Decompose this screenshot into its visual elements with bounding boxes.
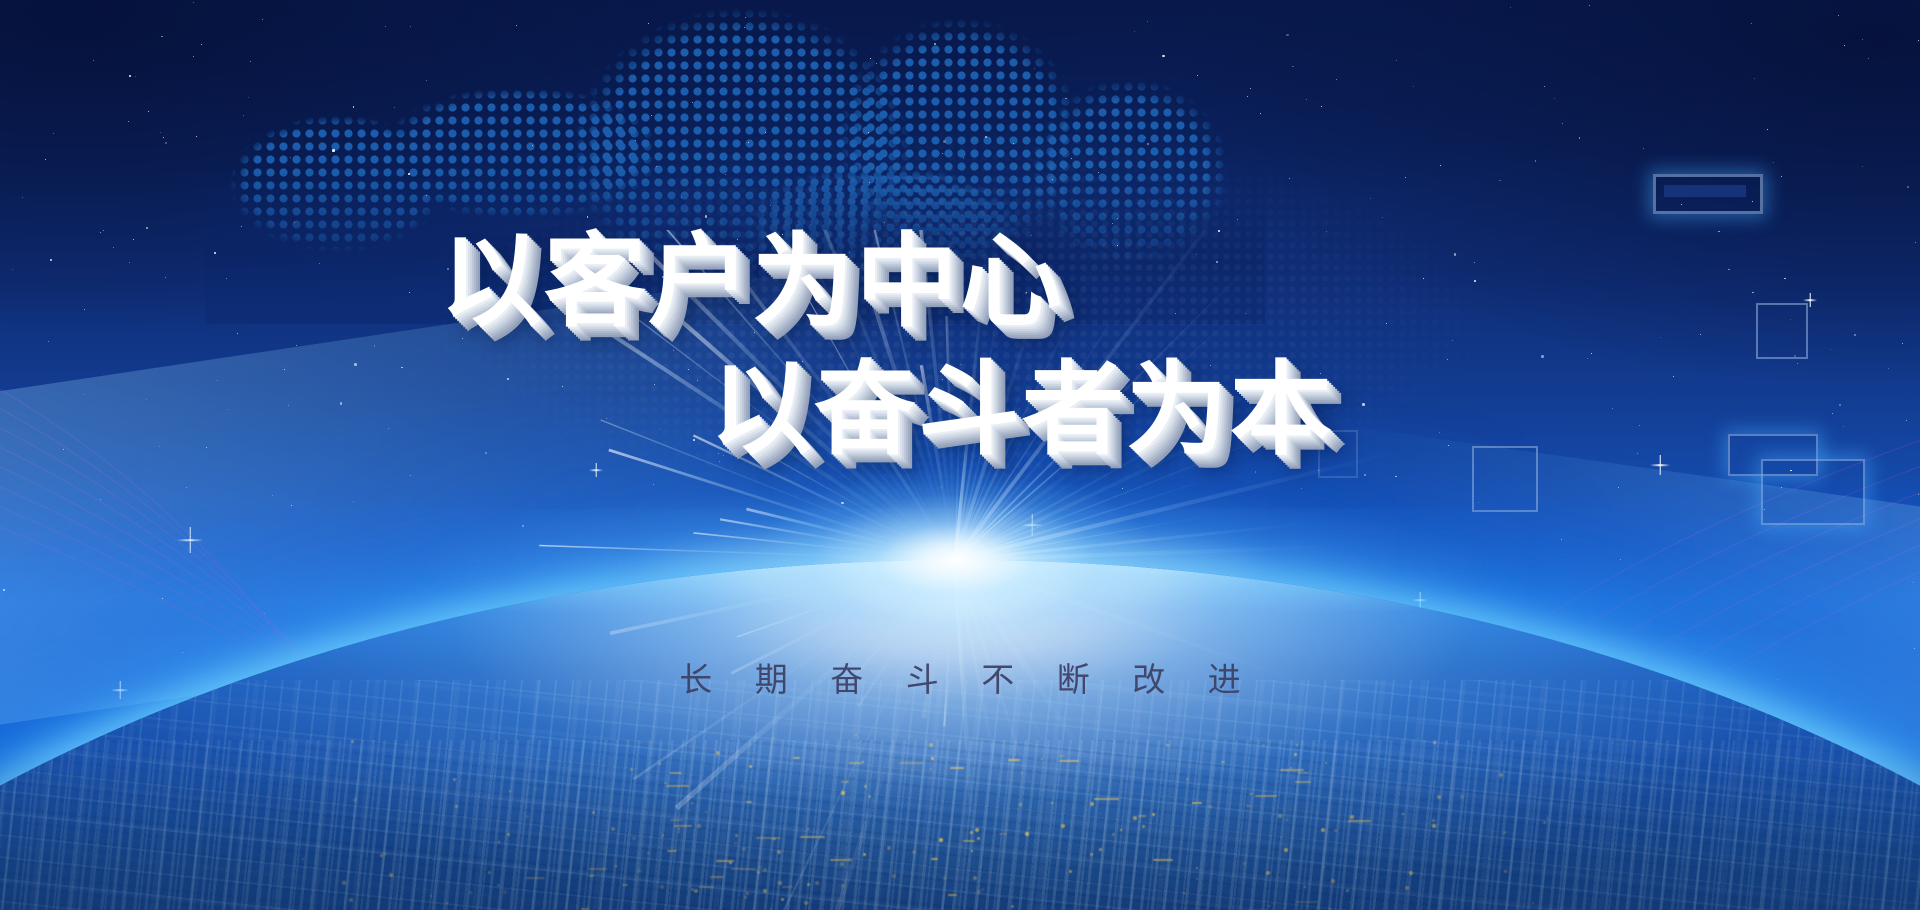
star xyxy=(1396,60,1397,61)
star xyxy=(1839,404,1841,406)
star xyxy=(146,227,149,230)
star xyxy=(1562,123,1563,124)
star xyxy=(1197,75,1198,76)
city-light xyxy=(1589,863,1590,864)
banner-stage: 以客户为中心 以奋斗者为本 长 期 奋 斗 不 断 改 进 xyxy=(0,0,1920,910)
star xyxy=(165,142,167,144)
star xyxy=(1591,353,1592,354)
star xyxy=(1250,88,1251,89)
star xyxy=(870,58,871,59)
sunburst-core xyxy=(695,440,1215,680)
star xyxy=(1306,99,1307,100)
star xyxy=(1767,129,1768,130)
star xyxy=(1754,78,1755,79)
geometric-frame-rect-top-right-fill xyxy=(1664,185,1746,197)
star xyxy=(394,107,395,108)
star xyxy=(353,106,355,108)
star xyxy=(1034,68,1035,69)
star xyxy=(103,230,104,231)
star xyxy=(1134,31,1135,32)
star xyxy=(1286,34,1289,37)
star xyxy=(193,56,194,57)
star xyxy=(129,262,130,263)
star xyxy=(648,23,649,24)
star xyxy=(226,278,227,279)
city-light xyxy=(235,772,237,774)
star xyxy=(1843,426,1844,427)
star xyxy=(786,118,787,119)
city-light xyxy=(349,898,353,902)
star xyxy=(1854,334,1856,336)
star xyxy=(12,269,13,270)
star xyxy=(1660,337,1661,338)
star xyxy=(1751,23,1752,24)
star xyxy=(128,121,129,122)
star xyxy=(1784,278,1786,280)
city-light xyxy=(351,740,354,743)
star xyxy=(1862,166,1863,167)
star xyxy=(196,136,197,137)
star xyxy=(1838,15,1840,17)
star xyxy=(1162,55,1165,58)
star xyxy=(934,43,937,46)
star xyxy=(1830,349,1831,350)
star xyxy=(1260,113,1261,114)
city-light xyxy=(287,775,289,777)
star xyxy=(53,133,54,134)
star xyxy=(1292,66,1294,68)
star xyxy=(1554,98,1555,99)
star xyxy=(516,25,517,26)
star xyxy=(912,85,914,87)
star xyxy=(163,137,164,138)
star xyxy=(1718,231,1720,233)
star xyxy=(876,63,877,64)
star xyxy=(201,44,202,45)
star xyxy=(1673,376,1674,377)
star xyxy=(1336,79,1337,80)
star xyxy=(1752,292,1754,294)
star xyxy=(262,19,263,20)
star xyxy=(1918,494,1919,495)
star xyxy=(160,132,161,133)
city-light xyxy=(1572,774,1573,775)
star xyxy=(1700,334,1701,335)
city-light xyxy=(1556,750,1558,752)
star xyxy=(1147,21,1148,22)
star xyxy=(1589,5,1590,6)
star xyxy=(1413,86,1414,87)
star xyxy=(1902,343,1903,344)
city-light xyxy=(302,858,304,860)
city-light xyxy=(1616,767,1617,768)
star xyxy=(692,102,693,103)
star xyxy=(1643,148,1644,149)
star xyxy=(48,341,49,342)
star xyxy=(1510,7,1511,8)
star xyxy=(1065,98,1067,100)
star xyxy=(243,115,244,116)
star xyxy=(129,75,131,77)
star xyxy=(319,263,320,264)
city-light xyxy=(342,881,346,885)
star xyxy=(133,239,134,240)
star xyxy=(22,197,23,198)
star xyxy=(1797,363,1798,364)
star xyxy=(1888,368,1889,369)
star xyxy=(93,60,94,61)
star xyxy=(1781,176,1782,177)
star xyxy=(135,76,136,77)
star xyxy=(1321,106,1322,107)
sunburst-glow xyxy=(955,560,956,561)
star xyxy=(651,115,652,116)
star xyxy=(744,27,745,28)
star xyxy=(193,2,194,3)
star xyxy=(1906,420,1907,421)
star xyxy=(250,61,251,62)
star xyxy=(1544,86,1545,87)
star xyxy=(1832,413,1833,414)
star xyxy=(214,252,216,254)
star xyxy=(84,309,85,310)
star xyxy=(426,80,427,81)
star xyxy=(290,157,291,158)
star xyxy=(50,259,53,262)
star xyxy=(241,226,242,227)
star xyxy=(1918,40,1919,41)
star xyxy=(100,232,101,233)
geometric-frame-rect-lower-right-b xyxy=(1761,459,1865,525)
star xyxy=(1639,425,1640,426)
star xyxy=(294,222,295,223)
star xyxy=(757,81,758,82)
star xyxy=(385,26,386,27)
star xyxy=(165,277,166,278)
star xyxy=(248,97,249,98)
star xyxy=(148,111,149,112)
star xyxy=(410,26,412,28)
star xyxy=(1612,408,1613,409)
star xyxy=(1862,39,1863,40)
star xyxy=(237,333,238,334)
star xyxy=(1773,162,1774,163)
subtitle-slogan: 长 期 奋 斗 不 断 改 进 xyxy=(0,653,1920,701)
star xyxy=(1915,242,1916,243)
star xyxy=(724,80,725,81)
star xyxy=(45,159,46,160)
star xyxy=(1844,45,1845,46)
geometric-frame-square-mid-right xyxy=(1756,303,1808,359)
city-light xyxy=(1659,848,1662,851)
star xyxy=(1247,96,1248,97)
star xyxy=(1868,58,1869,59)
star xyxy=(113,247,114,248)
star xyxy=(745,17,746,18)
star xyxy=(1907,186,1909,188)
star xyxy=(1728,269,1730,271)
star xyxy=(161,36,163,38)
